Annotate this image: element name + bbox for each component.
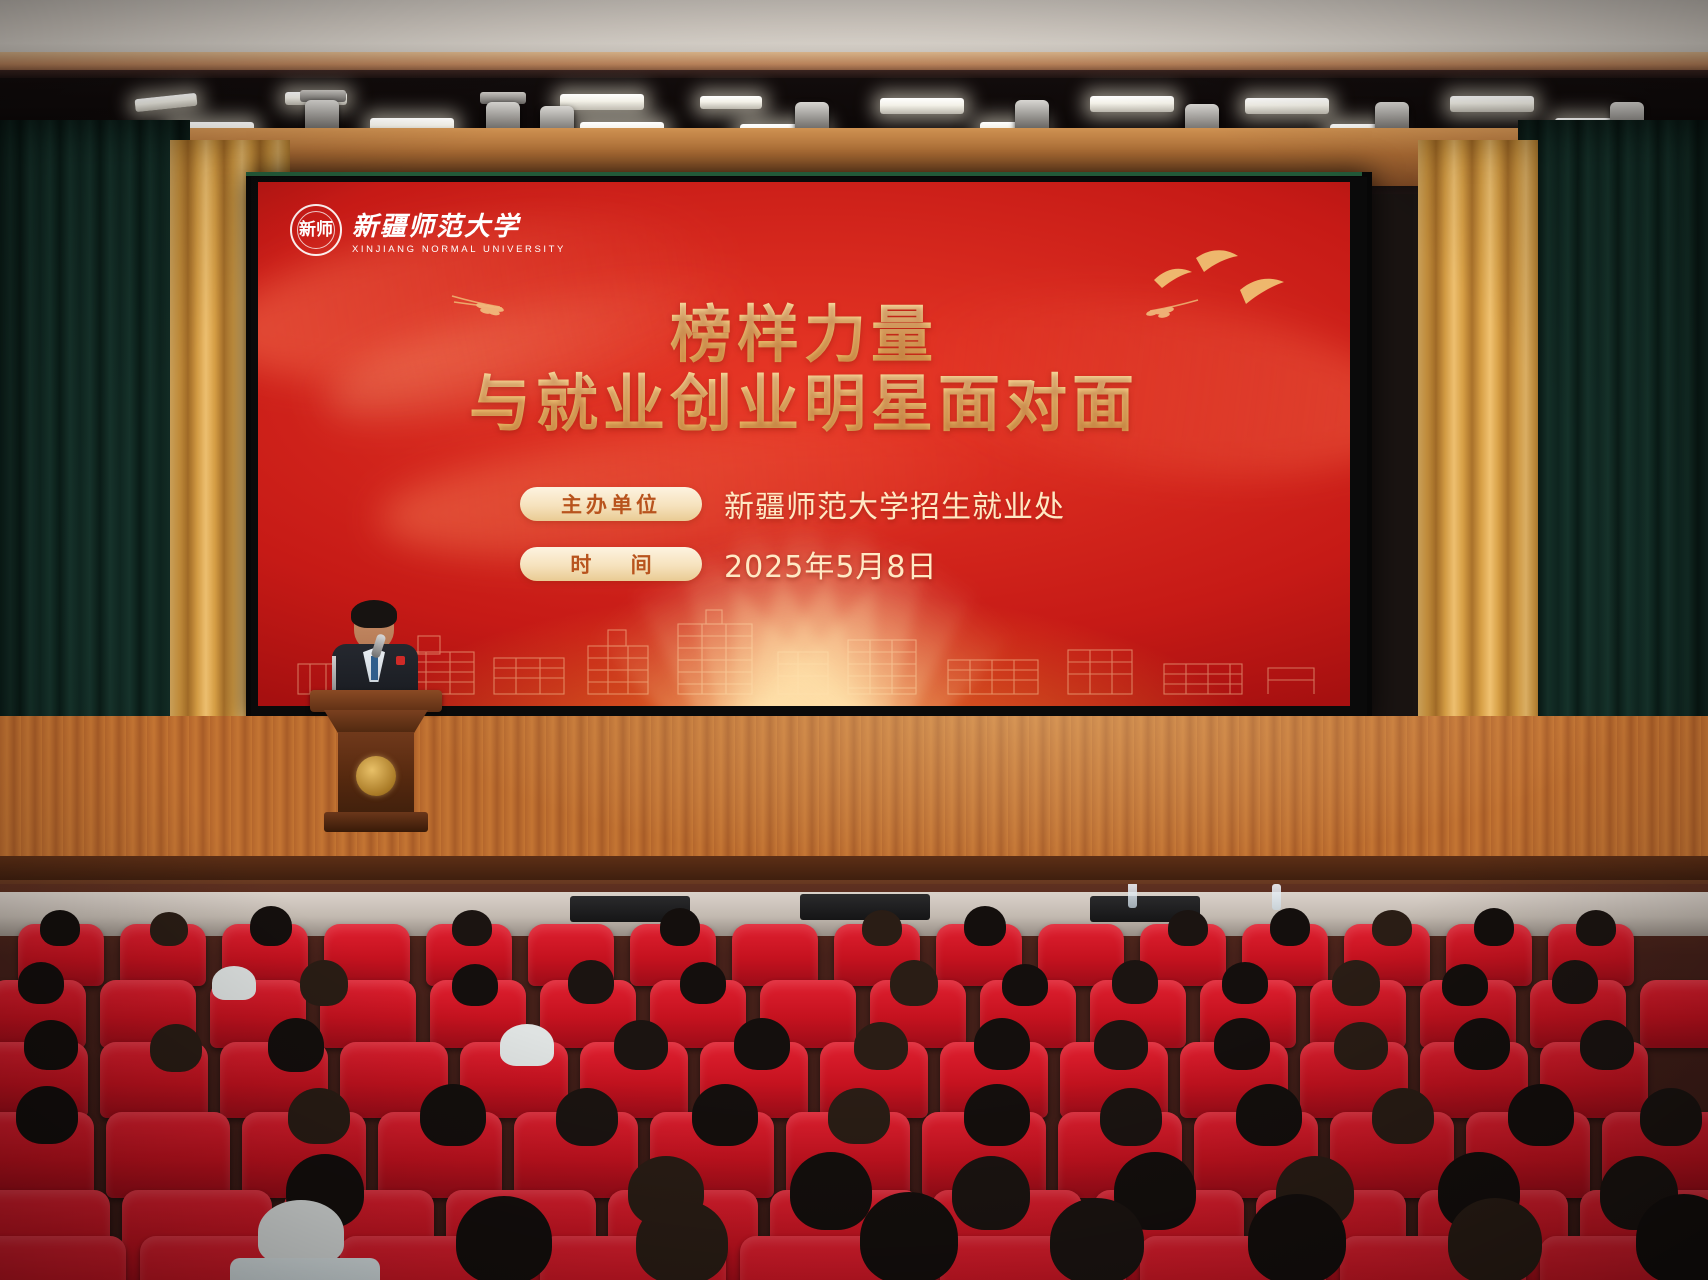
audience-head [964, 1084, 1030, 1146]
audience-head [1552, 960, 1598, 1004]
audience-head [1112, 960, 1158, 1004]
led-screen-top-strip [246, 172, 1362, 176]
audience-head [1094, 1020, 1148, 1070]
audience-head [1640, 1088, 1702, 1146]
audience-head [680, 962, 726, 1004]
audience-head [150, 912, 188, 946]
seal-text: 新师 [299, 222, 333, 238]
audience-shirt [230, 1258, 380, 1280]
lectern-crest-icon [356, 756, 396, 796]
audience-head [862, 910, 902, 946]
seat [732, 924, 818, 986]
lectern [310, 690, 442, 835]
audience-head [614, 1020, 668, 1070]
speaker-hair [351, 600, 397, 628]
time-label: 时 间 [554, 549, 667, 579]
audience-head [1050, 1198, 1144, 1280]
campus-skyline-graphic [258, 606, 1350, 698]
university-seal-icon: 新师 [290, 204, 342, 256]
audience-head [1372, 910, 1412, 946]
seat [106, 1112, 230, 1198]
lectern-neck [324, 710, 428, 734]
organizer-value: 新疆师范大学招生就业处 [724, 482, 1065, 526]
audience-head [692, 1084, 758, 1146]
organizer-label: 主办单位 [561, 489, 661, 519]
led-screen: 新师 新疆师范大学 XINJIANG NORMAL UNIVERSITY [258, 182, 1350, 706]
water-bottle [1272, 884, 1281, 910]
water-bottle [1128, 884, 1137, 908]
audience-head [952, 1156, 1030, 1230]
audience-head [288, 1088, 350, 1144]
stage-curtain-right-gold [1418, 140, 1538, 800]
audience-head [1332, 960, 1380, 1006]
audience-head [1100, 1088, 1162, 1146]
audience-head [636, 1200, 728, 1280]
stage-lamp-icon [880, 98, 964, 114]
organizer-label-pill: 主办单位 [520, 487, 702, 521]
meta-row-organizer: 主办单位 新疆师范大学招生就业处 [520, 482, 1065, 526]
stage-lamp-icon [1090, 96, 1174, 112]
meta-row-time: 时 间 2025年5月8日 [520, 542, 1065, 586]
audience-head [660, 908, 700, 946]
audience-head [854, 1022, 908, 1070]
university-name-cn: 新疆师范大学 [352, 206, 566, 243]
stage-lamp-icon [700, 96, 762, 109]
seat [1640, 980, 1708, 1048]
audience-head [974, 1018, 1030, 1070]
speaker-tie [371, 656, 378, 680]
audience-head [556, 1088, 618, 1146]
audience-area [0, 884, 1708, 1280]
audience-head [1372, 1088, 1434, 1144]
audience-head [1576, 910, 1616, 946]
audience-head [1270, 908, 1310, 946]
audience-head [1002, 964, 1048, 1006]
audience-head [828, 1088, 890, 1144]
audience-head [40, 910, 80, 946]
audience-cap [258, 1200, 344, 1264]
stage-lamp-icon [1245, 98, 1329, 114]
speaker-lapel-badge [396, 656, 405, 665]
audience-head [1580, 1020, 1634, 1070]
audience-head [1168, 910, 1208, 946]
audience-head [18, 962, 64, 1004]
time-label-pill: 时 间 [520, 547, 702, 581]
audience-head [16, 1086, 78, 1144]
stage-floor [0, 716, 1708, 876]
audience-head [1508, 1084, 1574, 1146]
stage-lamp-icon [134, 93, 197, 112]
audience-head [1334, 1022, 1388, 1070]
audience-head [1442, 964, 1488, 1006]
event-title: 榜样力量 与就业创业明星面对面 [258, 302, 1350, 440]
stage-lamp-icon [1450, 96, 1534, 112]
audience-head [1236, 1084, 1302, 1146]
audience-head [734, 1018, 790, 1070]
audience-head [1214, 1018, 1270, 1070]
event-title-line2: 与就业创业明星面对面 [258, 369, 1350, 440]
audience-head [568, 960, 614, 1004]
front-desk [800, 894, 930, 920]
lectern-top [310, 690, 442, 712]
audience-head [1248, 1194, 1346, 1280]
audience-head [250, 906, 292, 946]
lectern-base [324, 812, 428, 832]
audience-cap [212, 966, 256, 1000]
audience-head [452, 964, 498, 1006]
university-logo: 新师 新疆师范大学 XINJIANG NORMAL UNIVERSITY [290, 204, 566, 256]
seat [0, 1236, 126, 1280]
audience-head [1222, 962, 1268, 1004]
audience-head [1454, 1018, 1510, 1070]
audience-head [300, 960, 348, 1006]
university-name-en: XINJIANG NORMAL UNIVERSITY [352, 244, 566, 255]
event-title-line1: 榜样力量 [258, 302, 1350, 369]
audience-head [420, 1084, 486, 1146]
audience-head [1448, 1198, 1542, 1280]
time-value: 2025年5月8日 [724, 542, 938, 586]
audience-cap [500, 1024, 554, 1066]
audience-head [24, 1020, 78, 1070]
audience-head [452, 910, 492, 946]
audience-head [790, 1152, 872, 1230]
audience-head [890, 960, 938, 1006]
audience-head [150, 1024, 202, 1072]
event-meta: 主办单位 新疆师范大学招生就业处 时 间 2025年5月8日 [520, 482, 1065, 586]
seat [1038, 924, 1124, 986]
audience-head [1474, 908, 1514, 946]
auditorium-photo: 1H03 [0, 0, 1708, 1280]
audience-head [456, 1196, 552, 1280]
audience-head [268, 1018, 324, 1072]
audience-head [860, 1192, 958, 1280]
audience-head [964, 906, 1006, 946]
podium-microphone-stand-icon [332, 656, 336, 694]
